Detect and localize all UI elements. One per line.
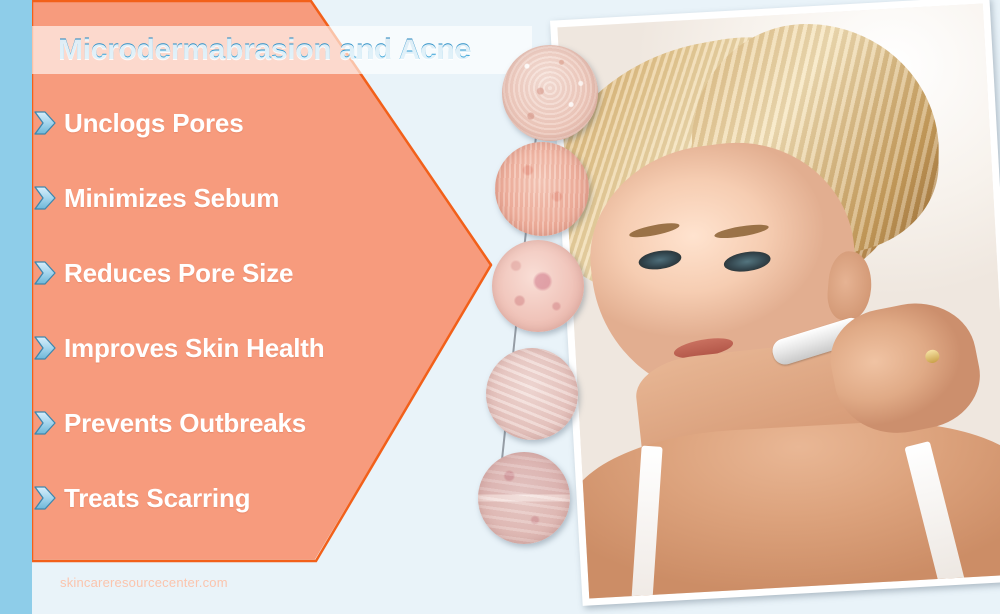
list-item-label: Minimizes Sebum — [64, 183, 279, 214]
arrow-bullet-icon — [34, 185, 56, 211]
list-item: Improves Skin Health — [34, 325, 454, 371]
circle-connector-line — [494, 60, 545, 528]
list-item: Treats Scarring — [34, 475, 454, 521]
skin-sample-5 — [478, 452, 570, 544]
infographic-canvas: Microdermabrasion and Acne Unclogs Pores — [0, 0, 1000, 614]
skin-sample-4 — [486, 348, 578, 440]
list-item: Unclogs Pores — [34, 100, 454, 146]
arrow-bullet-icon — [34, 485, 56, 511]
list-item: Reduces Pore Size — [34, 250, 454, 296]
list-item-label: Improves Skin Health — [64, 333, 324, 364]
arrow-bullet-icon — [34, 260, 56, 286]
photo-frame — [550, 0, 1000, 606]
list-item-label: Unclogs Pores — [64, 108, 243, 139]
photo-image — [557, 4, 1000, 599]
left-accent-strip — [0, 0, 32, 614]
arrow-bullet-icon — [34, 335, 56, 361]
list-item-label: Prevents Outbreaks — [64, 408, 306, 439]
arrow-bullet-icon — [34, 110, 56, 136]
benefits-list: Unclogs Pores Minimizes Sebum Reduces Po… — [34, 100, 454, 550]
page-title: Microdermabrasion and Acne — [58, 27, 528, 73]
list-item-label: Reduces Pore Size — [64, 258, 293, 289]
site-watermark: skincareresourcecenter.com — [60, 575, 228, 590]
arrow-bullet-icon — [34, 410, 56, 436]
list-item-label: Treats Scarring — [64, 483, 250, 514]
list-item: Minimizes Sebum — [34, 175, 454, 221]
list-item: Prevents Outbreaks — [34, 400, 454, 446]
